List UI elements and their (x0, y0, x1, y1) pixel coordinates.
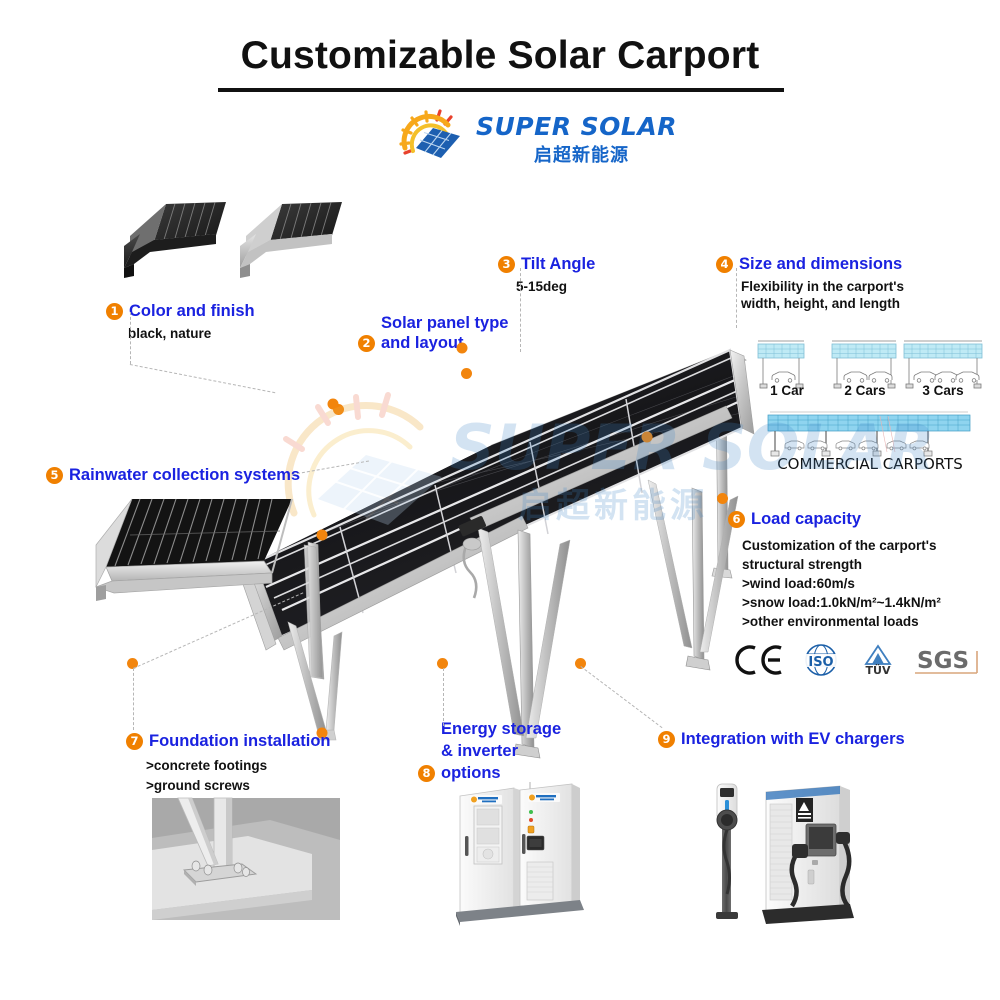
svg-text:ISO: ISO (808, 655, 833, 670)
watermark-text-cn: 启超新能源 (518, 486, 708, 526)
callout-7-body: >concrete footings >ground screws (146, 756, 386, 796)
rainwater-gutter-panel-photo (96, 495, 326, 610)
callout-9-number: 9 (658, 731, 675, 748)
callout-4-leader (736, 268, 737, 328)
callout-8[interactable]: 8Energy storage & inverter options (418, 718, 588, 784)
callout-6-title: Load capacity (751, 510, 861, 529)
callout-7-title: Foundation installation (149, 732, 330, 751)
certification-badges: ISO TÜV SGS (735, 643, 985, 681)
size-label-3cars: 3 Cars (904, 383, 982, 398)
brand-logo: SUPER SOLAR 启超新能源 (396, 104, 622, 170)
brand-name-cn: 启超新能源 (534, 141, 629, 167)
callout-7[interactable]: 7Foundation installation >concrete footi… (126, 732, 386, 796)
callout-4[interactable]: 4Size and dimensions Flexibility in the … (716, 255, 946, 312)
callout-8-leader (443, 668, 444, 726)
callout-4-number: 4 (716, 256, 733, 273)
callout-3-number: 3 (498, 256, 515, 273)
svg-text:SGS: SGS (917, 648, 969, 674)
callout-6-body: Customization of the carport's structura… (742, 536, 978, 631)
size-label-2cars: 2 Cars (826, 383, 904, 398)
callout-4-title: Size and dimensions (739, 255, 902, 274)
tuv-triangle-icon: TÜV (855, 643, 901, 677)
callout-3-body: 5-15deg (516, 278, 678, 295)
callout-6-dot (717, 493, 728, 504)
ev-charger-photo (700, 778, 860, 930)
callout-5-number: 5 (46, 467, 63, 484)
sgs-mark-icon: SGS (913, 643, 985, 677)
size-label-1car: 1 Car (748, 383, 826, 398)
page-title: Customizable Solar Carport (0, 34, 1000, 78)
callout-1-leader (130, 312, 131, 364)
aluminium-rail-color-samples-photo (118, 196, 356, 292)
concrete-footing-baseplate-photo (152, 798, 340, 920)
brand-name: SUPER SOLAR (476, 112, 677, 141)
iso-globe-icon: ISO (799, 643, 843, 677)
callout-8-title: Energy storage & inverter options (441, 718, 573, 784)
svg-text:TÜV: TÜV (866, 663, 891, 677)
ce-mark-icon (735, 643, 787, 677)
callout-6[interactable]: 6Load capacity Customization of the carp… (728, 510, 978, 631)
callout-3[interactable]: 3Tilt Angle 5-15deg (498, 255, 678, 295)
callout-6-number: 6 (728, 511, 745, 528)
sun-solar-panel-icon (396, 106, 472, 168)
callout-1-title: Color and finish (129, 302, 255, 321)
callout-9-title: Integration with EV chargers (681, 730, 905, 749)
callout-4-body: Flexibility in the carport's width, heig… (741, 278, 946, 312)
watermark-text: SUPER SOLAR (450, 411, 935, 484)
callout-8-number: 8 (418, 765, 435, 782)
callout-9[interactable]: 9Integration with EV chargers (658, 730, 948, 750)
callout-7-leader (133, 668, 134, 730)
watermark: SUPER SOLAR 启超新能源 (270, 395, 740, 525)
callout-3-title: Tilt Angle (521, 255, 595, 274)
callout-1-number: 1 (106, 303, 123, 320)
title-underline (218, 88, 784, 92)
callout-5[interactable]: 5Rainwater collection systems (46, 466, 346, 486)
callout-5-title: Rainwater collection systems (69, 466, 300, 485)
callout-7-number: 7 (126, 733, 143, 750)
energy-storage-cabinet-photo (452, 782, 592, 927)
carport-size-labels: 1 Car2 Cars3 Cars (748, 382, 984, 400)
